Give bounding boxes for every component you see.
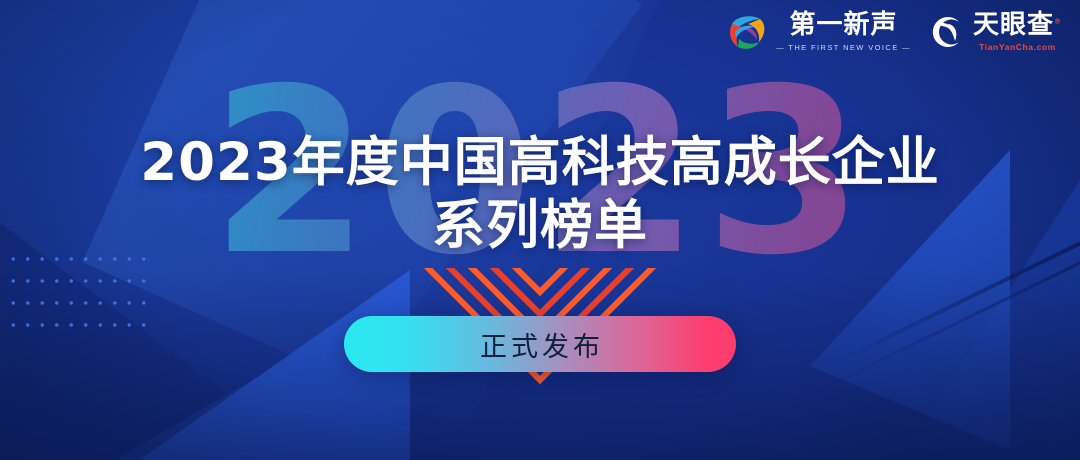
release-status-label: 正式发布 [476, 325, 604, 364]
release-status-pill[interactable]: 正式发布 [344, 316, 736, 372]
trademark-symbol: ® [1054, 17, 1062, 25]
tianyancha-tagline: TianYanCha.com [979, 42, 1056, 52]
logo-bar: 第一新声 — THE FIRST NEW VOICE — 天眼查® TianYa… [726, 12, 1062, 52]
tianyancha-name-wrap: 天眼查® [973, 12, 1062, 39]
promo-banner: 2023 2023年度中国高科技高成长企业 系列榜单 正式发布 [0, 0, 1080, 460]
logo-diyixinsheng[interactable]: 第一新声 — THE FIRST NEW VOICE — [726, 12, 911, 52]
tianyancha-text: 天眼查® TianYanCha.com [973, 12, 1062, 52]
tianyancha-name: 天眼查 [973, 10, 1054, 40]
diyixinsheng-mark-icon [726, 12, 768, 52]
page-title: 2023年度中国高科技高成长企业 系列榜单 [0, 132, 1080, 257]
logo-tianyancha[interactable]: 天眼查® TianYanCha.com [929, 12, 1062, 52]
diyixinsheng-name: 第一新声 [790, 12, 898, 39]
tianyancha-mark-icon [929, 14, 965, 50]
headline-line-1: 2023年度中国高科技高成长企业 [140, 132, 940, 193]
headline-line-2: 系列榜单 [0, 195, 1080, 258]
diyixinsheng-tagline: — THE FIRST NEW VOICE — [776, 43, 911, 52]
diyixinsheng-text: 第一新声 — THE FIRST NEW VOICE — [776, 12, 911, 51]
